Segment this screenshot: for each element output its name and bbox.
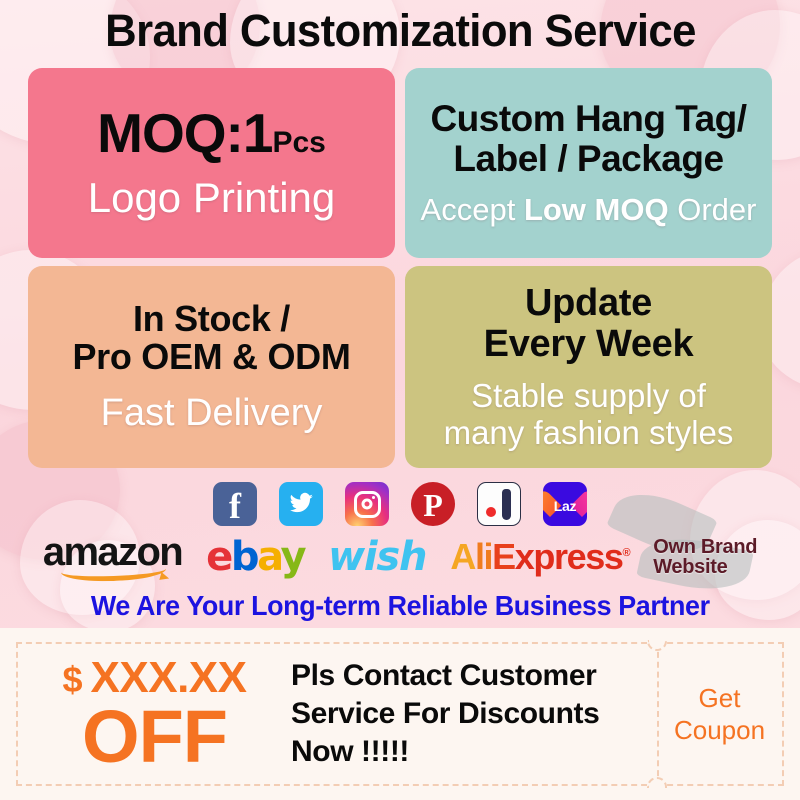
coupon-price-row: $ XXX.XX <box>32 656 277 700</box>
own-brand-website-logo[interactable]: Own Brand Website <box>653 537 757 578</box>
card-update-subtext: Stable supply of many fashion styles <box>444 378 734 451</box>
coupon-message-line3: Now !!!!! <box>291 733 657 771</box>
aliexpress-trademark-icon: ® <box>622 547 629 559</box>
ebay-letter-e: e <box>206 534 231 580</box>
wish-logo[interactable]: wish <box>328 537 426 577</box>
card-update-headline: Update Every Week <box>484 283 694 364</box>
card-moq-headline: MOQ:1Pcs <box>97 104 326 163</box>
lazada-icon-heart: Laz <box>549 490 581 519</box>
joom-icon[interactable] <box>477 482 521 526</box>
card-in-stock-headline: In Stock / Pro OEM & ODM <box>72 300 350 377</box>
ebay-letter-b: b <box>231 534 257 580</box>
card-moq-unit: Pcs <box>272 126 325 159</box>
lazada-icon-label: Laz <box>554 498 576 514</box>
card-in-stock: In Stock / Pro OEM & ODM Fast Delivery <box>28 266 395 468</box>
aliexpress-letters-li: li <box>475 536 492 577</box>
ebay-letter-a: a <box>257 534 280 580</box>
card-hang-tag-headline-line1: Custom Hang Tag/ <box>430 99 746 139</box>
promo-banner: Brand Customization Service MOQ:1Pcs Log… <box>0 0 800 800</box>
twitter-icon[interactable] <box>279 482 323 526</box>
card-hang-tag-subtext: Accept Low MOQ Order <box>421 193 757 227</box>
pinterest-icon-circle: P <box>411 482 455 526</box>
own-brand-line2: Website <box>653 557 757 577</box>
card-moq-headline-text: MOQ:1 <box>97 102 272 164</box>
lazada-icon[interactable]: Laz <box>543 482 587 526</box>
aliexpress-letter-e: E <box>492 536 515 577</box>
tagline-text: We Are Your Long-term Reliable Business … <box>91 590 710 622</box>
facebook-icon[interactable]: f <box>213 482 257 526</box>
joom-icon-letter <box>502 489 511 520</box>
ebay-letter-y: y <box>280 534 304 580</box>
aliexpress-logo[interactable]: AliExpress® <box>450 539 629 575</box>
tagline-bar: We Are Your Long-term Reliable Business … <box>0 588 800 624</box>
aliexpress-letter-a: A <box>450 536 475 577</box>
card-hang-tag: Custom Hang Tag/ Label / Package Accept … <box>405 68 772 258</box>
page-title: Brand Customization Service <box>105 8 696 53</box>
banner-header: Brand Customization Service <box>0 0 800 60</box>
get-coupon-button[interactable]: Get Coupon <box>657 642 784 786</box>
aliexpress-letters-rest: xpress <box>515 536 623 577</box>
instagram-icon[interactable] <box>345 482 389 526</box>
coupon-amount: XXX.XX <box>91 656 247 700</box>
card-update-sub-line1: Stable supply of <box>444 378 734 414</box>
card-update-headline-line1: Update <box>484 283 694 324</box>
card-update: Update Every Week Stable supply of many … <box>405 266 772 468</box>
card-hang-tag-headline-line2: Label / Package <box>430 139 746 179</box>
facebook-icon-glyph: f <box>229 488 241 524</box>
coupon-price-block: $ XXX.XX OFF <box>32 656 277 772</box>
card-moq-subtext: Logo Printing <box>88 175 336 221</box>
coupon-divider <box>657 642 659 786</box>
feature-cards-grid: MOQ:1Pcs Logo Printing Custom Hang Tag/ … <box>28 68 772 468</box>
card-hang-tag-sub-prefix: Accept <box>421 192 524 227</box>
marketplace-logos-row: amazon ebay wish AliExpress® Own Brand W… <box>0 528 800 586</box>
coupon-ticket: $ XXX.XX OFF Pls Contact Customer Servic… <box>16 642 784 786</box>
ebay-logo[interactable]: ebay <box>206 537 304 577</box>
ebay-logo-text: ebay <box>206 537 304 577</box>
amazon-swoosh-icon <box>60 558 166 583</box>
get-coupon-line1: Get <box>674 682 765 715</box>
card-moq: MOQ:1Pcs Logo Printing <box>28 68 395 258</box>
amazon-logo[interactable]: amazon <box>43 532 182 582</box>
aliexpress-logo-text: AliExpress® <box>450 539 629 575</box>
get-coupon-line2: Coupon <box>674 714 765 747</box>
card-in-stock-headline-line1: In Stock / <box>72 300 350 339</box>
coupon-off-label: OFF <box>32 702 277 772</box>
card-in-stock-subtext: Fast Delivery <box>101 393 323 435</box>
coupon-message-line2: Service For Discounts <box>291 695 657 733</box>
card-hang-tag-sub-strong: Low MOQ <box>524 192 669 227</box>
social-icons-row: f P Laz <box>0 480 800 528</box>
coupon-message-line1: Pls Contact Customer <box>291 657 657 695</box>
get-coupon-label: Get Coupon <box>674 682 765 747</box>
card-update-sub-line2: many fashion styles <box>444 415 734 451</box>
coupon-main-section: $ XXX.XX OFF Pls Contact Customer Servic… <box>16 642 657 786</box>
card-hang-tag-headline: Custom Hang Tag/ Label / Package <box>430 99 746 178</box>
coupon-currency-symbol: $ <box>63 662 83 698</box>
pinterest-icon[interactable]: P <box>411 482 455 526</box>
card-in-stock-headline-line2: Pro OEM & ODM <box>72 338 350 377</box>
card-hang-tag-sub-suffix: Order <box>669 192 757 227</box>
wish-logo-text: wish <box>328 537 426 577</box>
coupon-message: Pls Contact Customer Service For Discoun… <box>277 657 657 770</box>
own-brand-line1: Own Brand <box>653 537 757 557</box>
card-update-headline-line2: Every Week <box>484 324 694 365</box>
instagram-icon-frame <box>354 491 381 518</box>
coupon-panel: $ XXX.XX OFF Pls Contact Customer Servic… <box>0 628 800 800</box>
pinterest-icon-glyph: P <box>423 489 443 521</box>
joom-icon-dot <box>486 507 496 517</box>
